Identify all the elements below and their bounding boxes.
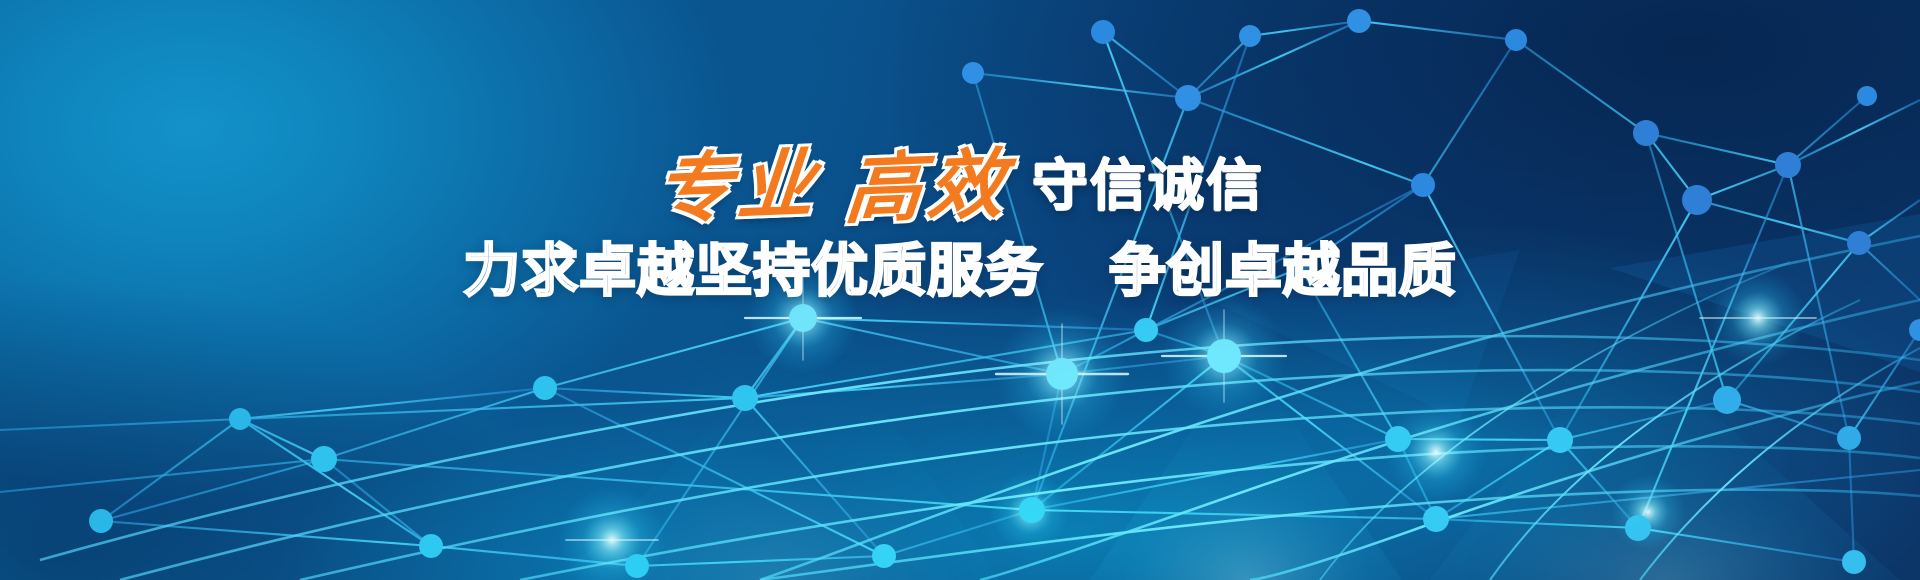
hero-banner: 专业 高效 守信诚信 力求卓越坚持优质服务 争创卓越品质 xyxy=(0,0,1920,580)
slogan-line-1: 专业 高效 守信诚信 xyxy=(0,149,1920,225)
slogan-line2-segment-2: 争创卓越品质 xyxy=(1109,238,1457,304)
slogan-brush-part-2: 高效 xyxy=(842,145,1013,227)
slogan-line2-segment-1: 力求卓越坚持优质服务 xyxy=(463,238,1043,304)
slogan-line-2: 力求卓越坚持优质服务 争创卓越品质 xyxy=(0,243,1920,300)
slogan-bold-part: 守信诚信 xyxy=(1032,159,1264,215)
slogan-block: 专业 高效 守信诚信 力求卓越坚持优质服务 争创卓越品质 xyxy=(0,149,1920,300)
slogan-brush-part-1: 专业 xyxy=(652,145,823,227)
